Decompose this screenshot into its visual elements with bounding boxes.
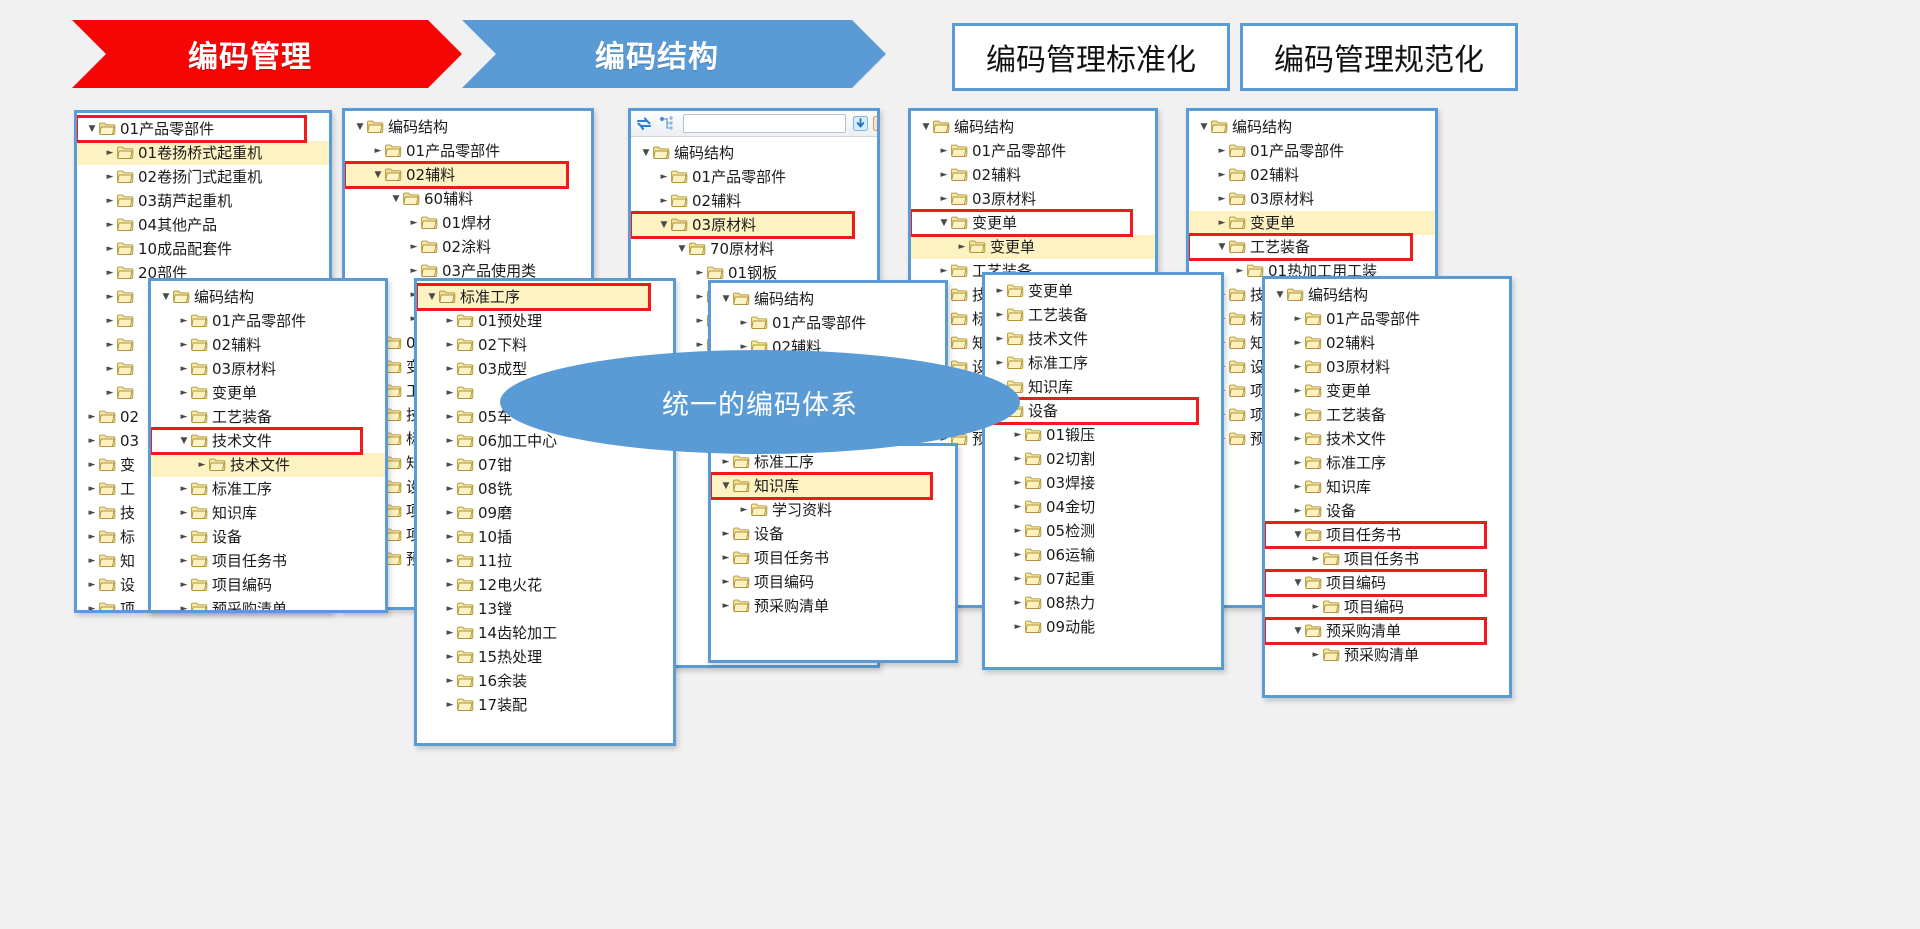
tree-node-label: 02辅料 xyxy=(692,194,741,209)
tree-node[interactable]: ▼编码结构 xyxy=(151,285,385,309)
tree-node[interactable]: ▼01产品零部件 xyxy=(77,117,305,141)
chevron-right-icon[interactable]: ► xyxy=(443,533,457,542)
chevron-right-icon[interactable]: ► xyxy=(1011,599,1025,608)
tree-node[interactable]: ►09磨 xyxy=(417,501,673,525)
tree-node[interactable]: ►知识库 xyxy=(151,501,385,525)
tree-node[interactable]: ►学习资料 xyxy=(711,498,955,522)
tree-node-label: 09磨 xyxy=(478,506,512,521)
header-box-standardization: 编码管理标准化 xyxy=(952,23,1230,91)
chevron-down-icon[interactable]: ▼ xyxy=(719,482,733,491)
tree-node[interactable]: ▼60辅料 xyxy=(345,187,591,211)
tree-node-label: 标 xyxy=(120,530,135,545)
chevron-right-icon[interactable]: ► xyxy=(177,581,191,590)
chevron-down-icon[interactable]: ▼ xyxy=(937,219,951,228)
chevron-right-icon[interactable]: ► xyxy=(103,365,117,374)
folder-icon xyxy=(117,194,134,208)
folder-icon xyxy=(99,458,116,472)
chevron-right-icon[interactable]: ► xyxy=(177,389,191,398)
tree-node[interactable]: ▼知识库 xyxy=(711,474,931,498)
folder-icon xyxy=(1025,596,1042,610)
folder-icon xyxy=(733,551,750,565)
tree-node[interactable]: ►知识库 xyxy=(1265,475,1509,499)
chevron-right-icon[interactable]: ► xyxy=(1291,459,1305,468)
chevron-right-icon[interactable]: ► xyxy=(937,267,951,276)
tree-node[interactable]: ►05检测 xyxy=(985,519,1221,543)
tree-node[interactable]: ►02切割 xyxy=(985,447,1221,471)
chevron-right-icon[interactable]: ► xyxy=(443,509,457,518)
chevron-right-icon[interactable]: ► xyxy=(85,461,99,470)
chevron-right-icon[interactable]: ► xyxy=(407,219,421,228)
chevron-down-icon[interactable]: ▼ xyxy=(389,195,403,204)
chevron-down-icon[interactable]: ▼ xyxy=(919,123,933,132)
tree-node[interactable]: ►项目任务书 xyxy=(1265,547,1509,571)
chevron-right-icon[interactable]: ► xyxy=(177,485,191,494)
tree-node[interactable]: ►01卷扬桥式起重机 xyxy=(77,141,329,165)
tree-node[interactable]: ▼标准工序 xyxy=(417,285,649,309)
chevron-right-icon[interactable]: ► xyxy=(1291,339,1305,348)
tree-node[interactable]: ▼编码结构 xyxy=(631,141,877,165)
folder-icon xyxy=(1025,452,1042,466)
chevron-right-icon[interactable]: ► xyxy=(371,147,385,156)
chevron-right-icon[interactable]: ► xyxy=(1011,551,1025,560)
tree-node[interactable]: ►技术文件 xyxy=(985,327,1221,351)
tree-node[interactable]: ►02辅料 xyxy=(1189,163,1435,187)
tree-node-label: 01锻压 xyxy=(1046,428,1095,443)
tree-node[interactable]: ►02辅料 xyxy=(1265,331,1509,355)
search-input[interactable] xyxy=(683,114,846,133)
tree-node[interactable]: ▼技术文件 xyxy=(151,429,361,453)
tree-node[interactable]: ►12电火花 xyxy=(417,573,673,597)
chevron-right-icon[interactable]: ► xyxy=(693,293,707,302)
folder-icon xyxy=(1305,504,1322,518)
tree-node[interactable]: ►项目编码 xyxy=(151,573,385,597)
chevron-right-icon[interactable]: ► xyxy=(85,509,99,518)
move-down-button[interactable] xyxy=(853,116,868,131)
chevron-right-icon[interactable]: ► xyxy=(1291,363,1305,372)
chevron-right-icon[interactable]: ► xyxy=(85,533,99,542)
tree-node-label: 02下料 xyxy=(478,338,527,353)
tree-node-label: 01产品零部件 xyxy=(692,170,786,185)
tree-node[interactable]: ►项目编码 xyxy=(711,570,955,594)
tree-node[interactable]: ►03原材料 xyxy=(911,187,1155,211)
tree-node[interactable]: ►15热处理 xyxy=(417,645,673,669)
chevron-right-icon[interactable]: ► xyxy=(993,359,1007,368)
chevron-right-icon[interactable]: ► xyxy=(177,413,191,422)
chevron-right-icon[interactable]: ► xyxy=(177,365,191,374)
tree-node[interactable]: ►01产品零部件 xyxy=(911,139,1155,163)
tree-node-label: 编码结构 xyxy=(1232,120,1292,135)
chevron-down-icon[interactable]: ▼ xyxy=(657,221,671,230)
chevron-right-icon[interactable]: ► xyxy=(719,458,733,467)
tree-node[interactable]: ▼02辅料 xyxy=(345,163,567,187)
folder-icon xyxy=(457,506,474,520)
chevron-right-icon[interactable]: ► xyxy=(1011,623,1025,632)
tree-node[interactable]: ►标准工序 xyxy=(1265,451,1509,475)
chevron-right-icon[interactable]: ► xyxy=(443,701,457,710)
chevron-down-icon[interactable]: ▼ xyxy=(353,123,367,132)
folder-icon xyxy=(1305,432,1322,446)
chevron-down-icon[interactable]: ▼ xyxy=(639,149,653,158)
chevron-right-icon[interactable]: ► xyxy=(719,602,733,611)
tree-node-label: 08热力 xyxy=(1046,596,1095,611)
chevron-right-icon[interactable]: ► xyxy=(443,413,457,422)
chevron-right-icon[interactable]: ► xyxy=(1291,387,1305,396)
tree-node[interactable]: ▼编码结构 xyxy=(711,287,945,311)
chevron-right-icon[interactable]: ► xyxy=(993,287,1007,296)
folder-icon xyxy=(1229,312,1246,326)
tree-node[interactable]: ►08热力 xyxy=(985,591,1221,615)
chevron-right-icon[interactable]: ► xyxy=(177,605,191,614)
tree-node[interactable]: ▼预采购清单 xyxy=(1265,619,1485,643)
tree-node[interactable]: ►变更单 xyxy=(151,381,385,405)
chevron-right-icon[interactable]: ► xyxy=(443,653,457,662)
chevron-right-icon[interactable]: ► xyxy=(1291,483,1305,492)
chevron-right-icon[interactable]: ► xyxy=(937,171,951,180)
folder-icon xyxy=(733,599,750,613)
tree-node[interactable]: ►01产品零部件 xyxy=(151,309,385,333)
tree-node[interactable]: ►14齿轮加工 xyxy=(417,621,673,645)
tree-node-label: 02辅料 xyxy=(1250,168,1299,183)
tree-window-4-inner-2[interactable]: ►标准工序▼知识库►学习资料►设备►项目任务书►项目编码►预采购清单 xyxy=(708,443,958,663)
tree-node[interactable]: ►工艺装备 xyxy=(985,303,1221,327)
tree-node-label: 06运输 xyxy=(1046,548,1095,563)
chevron-right-icon[interactable]: ► xyxy=(103,221,117,230)
tree-node[interactable]: ►设备 xyxy=(711,522,955,546)
tree-node-label: 设备 xyxy=(1028,404,1058,419)
chevron-right-icon[interactable]: ► xyxy=(85,581,99,590)
tree-node[interactable]: ►11拉 xyxy=(417,549,673,573)
chevron-right-icon[interactable]: ► xyxy=(103,149,117,158)
folder-icon xyxy=(457,650,474,664)
tree-node[interactable]: ▼变更单 xyxy=(911,211,1131,235)
chevron-right-icon[interactable]: ► xyxy=(177,557,191,566)
chevron-right-icon[interactable]: ► xyxy=(1309,555,1323,564)
tree-node-label: 工艺装备 xyxy=(1326,408,1386,423)
expand-tree-icon[interactable] xyxy=(658,115,676,133)
chevron-right-icon[interactable]: ► xyxy=(103,293,117,302)
folder-icon xyxy=(951,192,968,206)
chevron-right-icon[interactable]: ► xyxy=(103,389,117,398)
chevron-right-icon[interactable]: ► xyxy=(103,317,117,326)
chevron-right-icon[interactable]: ► xyxy=(1011,479,1025,488)
tree-node[interactable]: ►01产品零部件 xyxy=(1189,139,1435,163)
chevron-right-icon[interactable]: ► xyxy=(693,269,707,278)
tree-node[interactable]: ►01产品零部件 xyxy=(711,311,945,335)
folder-icon xyxy=(1305,336,1322,350)
chevron-right-icon[interactable]: ► xyxy=(443,341,457,350)
tree-node[interactable]: ►变更单 xyxy=(985,279,1221,303)
chevron-right-icon[interactable]: ► xyxy=(443,629,457,638)
tree-node[interactable]: ►10成品配套件 xyxy=(77,237,329,261)
tree-node[interactable]: ►02辅料 xyxy=(151,333,385,357)
tree-node[interactable]: ►03原材料 xyxy=(151,357,385,381)
folder-icon xyxy=(99,530,116,544)
tree-node[interactable]: ►04金切 xyxy=(985,495,1221,519)
tree-node-label: 编码结构 xyxy=(1308,288,1368,303)
folder-icon xyxy=(99,482,116,496)
folder-icon xyxy=(457,578,474,592)
folder-icon xyxy=(99,410,116,424)
tree-node[interactable]: ▼70原材料 xyxy=(631,237,877,261)
chevron-right-icon[interactable]: ► xyxy=(103,245,117,254)
tree-node[interactable]: ►10插 xyxy=(417,525,673,549)
tree-view: ►变更单►工艺装备►技术文件►标准工序►知识库▼设备►01锻压►02切割►03焊… xyxy=(985,275,1221,639)
folder-icon xyxy=(1323,552,1340,566)
tree-node[interactable]: ►01锻压 xyxy=(985,423,1221,447)
chevron-right-icon[interactable]: ► xyxy=(719,554,733,563)
chevron-right-icon[interactable]: ► xyxy=(85,557,99,566)
tree-node-label: 15热处理 xyxy=(478,650,542,665)
chevron-down-icon[interactable]: ▼ xyxy=(1291,579,1305,588)
chevron-down-icon[interactable]: ▼ xyxy=(371,171,385,180)
tree-node[interactable]: ►02辅料 xyxy=(911,163,1155,187)
chevron-right-icon[interactable]: ► xyxy=(443,677,457,686)
chevron-right-icon[interactable]: ► xyxy=(937,195,951,204)
tree-node[interactable]: ►02下料 xyxy=(417,333,673,357)
folder-icon xyxy=(951,288,968,302)
chevron-right-icon[interactable]: ► xyxy=(1291,411,1305,420)
tree-node[interactable]: ►13镗 xyxy=(417,597,673,621)
chevron-right-icon[interactable]: ► xyxy=(1215,195,1229,204)
folder-icon xyxy=(751,503,768,517)
chevron-right-icon[interactable]: ► xyxy=(1215,147,1229,156)
chevron-right-icon[interactable]: ► xyxy=(1291,315,1305,324)
chevron-right-icon[interactable]: ► xyxy=(85,485,99,494)
folder-icon xyxy=(1025,500,1042,514)
chevron-right-icon[interactable]: ► xyxy=(85,437,99,446)
tree-node-label: 03产品使用类 xyxy=(442,264,536,279)
chevron-right-icon[interactable]: ► xyxy=(1291,507,1305,516)
folder-icon xyxy=(1323,648,1340,662)
tree-node[interactable]: ►标准工序 xyxy=(151,477,385,501)
tree-node[interactable]: ►01焊材 xyxy=(345,211,591,235)
tree-node[interactable]: ►设备 xyxy=(1265,499,1509,523)
chevron-down-icon[interactable]: ▼ xyxy=(1291,627,1305,636)
tree-window-1-inner[interactable]: ▼编码结构►01产品零部件►02辅料►03原材料►变更单►工艺装备▼技术文件►技… xyxy=(148,278,388,613)
folder-icon xyxy=(191,314,208,328)
tree-node[interactable]: ►项目任务书 xyxy=(151,549,385,573)
tree-node[interactable]: ▼03原材料 xyxy=(631,213,853,237)
tree-node[interactable]: ►变更单 xyxy=(1265,379,1509,403)
tree-node-label: 03原材料 xyxy=(1326,360,1390,375)
tree-node[interactable]: ►16余装 xyxy=(417,669,673,693)
tree-node[interactable]: ►01产品零部件 xyxy=(345,139,591,163)
tree-node[interactable]: ►工艺装备 xyxy=(1265,403,1509,427)
folder-icon xyxy=(457,410,474,424)
tree-node[interactable]: ►01产品零部件 xyxy=(1265,307,1509,331)
folder-icon xyxy=(421,264,438,278)
folder-icon xyxy=(191,554,208,568)
chevron-right-icon[interactable]: ► xyxy=(1215,219,1229,228)
chevron-right-icon[interactable]: ► xyxy=(993,311,1007,320)
chevron-right-icon[interactable]: ► xyxy=(443,461,457,470)
chevron-right-icon[interactable]: ► xyxy=(443,389,457,398)
chevron-right-icon[interactable]: ► xyxy=(737,319,751,328)
folder-icon xyxy=(457,530,474,544)
tree-node[interactable]: ►02辅料 xyxy=(631,189,877,213)
chevron-right-icon[interactable]: ► xyxy=(1011,503,1025,512)
chevron-down-icon[interactable]: ▼ xyxy=(425,293,439,302)
tree-view: ▼编码结构►01产品零部件►02辅料►03原材料►变更单►工艺装备►技术文件►标… xyxy=(1265,279,1509,667)
tree-node-label: 14齿轮加工 xyxy=(478,626,557,641)
chevron-right-icon[interactable]: ► xyxy=(177,317,191,326)
chevron-right-icon[interactable]: ► xyxy=(177,533,191,542)
chevron-right-icon[interactable]: ► xyxy=(1309,603,1323,612)
tree-node[interactable]: ▼项目任务书 xyxy=(1265,523,1485,547)
tree-node[interactable]: ►03原材料 xyxy=(1189,187,1435,211)
chevron-down-icon[interactable]: ▼ xyxy=(1215,243,1229,252)
chevron-down-icon[interactable]: ▼ xyxy=(1291,531,1305,540)
folder-icon xyxy=(403,192,420,206)
tree-node[interactable]: ►变更单 xyxy=(1189,211,1435,235)
chevron-step-2-label: 编码结构 xyxy=(595,32,719,76)
chevron-right-icon[interactable]: ► xyxy=(443,485,457,494)
tree-node-label: 设备 xyxy=(754,527,784,542)
tree-node[interactable]: ►01预处理 xyxy=(417,309,673,333)
tree-node[interactable]: ►技术文件 xyxy=(1265,427,1509,451)
tree-node[interactable]: ►设备 xyxy=(151,525,385,549)
chevron-right-icon[interactable]: ► xyxy=(955,243,969,252)
tree-node-label: 工艺装备 xyxy=(1250,240,1310,255)
tree-node[interactable]: ►09动能 xyxy=(985,615,1221,639)
chevron-right-icon[interactable]: ► xyxy=(443,605,457,614)
tree-node-label: 知识库 xyxy=(1028,380,1073,395)
chevron-right-icon[interactable]: ► xyxy=(657,173,671,182)
chevron-right-icon[interactable]: ► xyxy=(177,509,191,518)
tree-node[interactable]: ►工艺装备 xyxy=(151,405,385,429)
chevron-right-icon[interactable]: ► xyxy=(937,147,951,156)
chevron-right-icon[interactable]: ► xyxy=(443,365,457,374)
chevron-right-icon[interactable]: ► xyxy=(407,243,421,252)
folder-icon xyxy=(1305,312,1322,326)
chevron-down-icon[interactable]: ▼ xyxy=(85,125,99,134)
chevron-down-icon[interactable]: ▼ xyxy=(1273,291,1287,300)
tree-node-label: 02辅料 xyxy=(406,168,455,183)
chevron-right-icon[interactable]: ► xyxy=(103,173,117,182)
tree-node[interactable]: ►预采购清单 xyxy=(151,597,385,613)
refresh-icon[interactable] xyxy=(635,115,653,133)
chevron-right-icon[interactable]: ► xyxy=(85,605,99,614)
chevron-right-icon[interactable]: ► xyxy=(1011,431,1025,440)
chevron-right-icon[interactable]: ► xyxy=(443,317,457,326)
tree-node-label: 变 xyxy=(120,458,135,473)
tree-window-3[interactable]: ▼标准工序►01预处理►02下料►03成型►►05车►06加工中心►07钳►08… xyxy=(414,278,676,746)
chevron-right-icon[interactable]: ► xyxy=(195,461,209,470)
chevron-right-icon[interactable]: ► xyxy=(1215,171,1229,180)
chevron-down-icon[interactable]: ▼ xyxy=(719,295,733,304)
tree-node[interactable]: ►变更单 xyxy=(911,235,1155,259)
chevron-right-icon[interactable]: ► xyxy=(693,317,707,326)
folder-icon xyxy=(733,527,750,541)
tree-node[interactable]: ▼工艺装备 xyxy=(1189,235,1411,259)
tree-node[interactable]: ►知识库 xyxy=(985,375,1221,399)
chevron-right-icon[interactable]: ► xyxy=(737,506,751,515)
tree-node[interactable]: ▼编码结构 xyxy=(345,115,591,139)
chevron-right-icon[interactable]: ► xyxy=(1233,267,1247,276)
chevron-right-icon[interactable]: ► xyxy=(443,437,457,446)
chevron-down-icon[interactable]: ▼ xyxy=(177,437,191,446)
chevron-right-icon[interactable]: ► xyxy=(1011,455,1025,464)
tree-node[interactable]: ►08铣 xyxy=(417,477,673,501)
tree-window-5-inner[interactable]: ►变更单►工艺装备►技术文件►标准工序►知识库▼设备►01锻压►02切割►03焊… xyxy=(982,272,1224,670)
tree-node[interactable]: ►07起重 xyxy=(985,567,1221,591)
chevron-right-icon[interactable]: ► xyxy=(1011,575,1025,584)
tree-node-label: 07钳 xyxy=(478,458,512,473)
chevron-right-icon[interactable]: ► xyxy=(85,413,99,422)
tree-node[interactable]: ►03葫芦起重机 xyxy=(77,189,329,213)
tree-node[interactable]: ►06运输 xyxy=(985,543,1221,567)
tree-node[interactable]: ►01产品零部件 xyxy=(631,165,877,189)
chevron-right-icon[interactable]: ► xyxy=(103,269,117,278)
tree-node[interactable]: ▼编码结构 xyxy=(1189,115,1435,139)
chevron-right-icon[interactable]: ► xyxy=(719,578,733,587)
folder-icon xyxy=(1229,408,1246,422)
tree-node[interactable]: ►02涂料 xyxy=(345,235,591,259)
folder-icon xyxy=(1305,360,1322,374)
chevron-right-icon[interactable]: ► xyxy=(1309,651,1323,660)
chevron-down-icon[interactable]: ▼ xyxy=(675,245,689,254)
tree-node[interactable]: ►项目编码 xyxy=(1265,595,1509,619)
chevron-right-icon[interactable]: ► xyxy=(177,341,191,350)
tree-node[interactable]: ►02卷扬门式起重机 xyxy=(77,165,329,189)
folder-icon xyxy=(653,146,670,160)
tree-node[interactable]: ►17装配 xyxy=(417,693,673,717)
tree-node-label: 03原材料 xyxy=(1250,192,1314,207)
tree-node[interactable]: ►03焊接 xyxy=(985,471,1221,495)
chevron-right-icon[interactable]: ► xyxy=(103,341,117,350)
tree-window-6-inner[interactable]: ▼编码结构►01产品零部件►02辅料►03原材料►变更单►工艺装备►技术文件►标… xyxy=(1262,276,1512,698)
tree-node[interactable]: ►技术文件 xyxy=(151,453,385,477)
tree-node-label: 变更单 xyxy=(212,386,257,401)
chevron-down-icon[interactable]: ▼ xyxy=(1197,123,1211,132)
tree-node[interactable]: ►预采购清单 xyxy=(1265,643,1509,667)
chevron-right-icon[interactable]: ► xyxy=(407,267,421,276)
chevron-right-icon[interactable]: ► xyxy=(103,197,117,206)
tree-node[interactable]: ►项目任务书 xyxy=(711,546,955,570)
tree-node[interactable]: ►04其他产品 xyxy=(77,213,329,237)
folder-icon xyxy=(951,264,968,278)
tree-node-label: 设 xyxy=(120,578,135,593)
tree-node[interactable]: ▼项目编码 xyxy=(1265,571,1485,595)
tree-node-label: 01产品零部件 xyxy=(772,316,866,331)
chevron-right-icon[interactable]: ► xyxy=(443,581,457,590)
chevron-right-icon[interactable]: ► xyxy=(719,530,733,539)
tree-node[interactable]: ▼编码结构 xyxy=(911,115,1155,139)
chevron-right-icon[interactable]: ► xyxy=(443,557,457,566)
folder-icon xyxy=(191,602,208,613)
chevron-right-icon[interactable]: ► xyxy=(693,341,707,350)
chevron-right-icon[interactable]: ► xyxy=(993,335,1007,344)
chevron-down-icon[interactable]: ▼ xyxy=(159,293,173,302)
chevron-right-icon[interactable]: ► xyxy=(657,197,671,206)
tree-node-label: 预采购清单 xyxy=(754,599,829,614)
tree-node[interactable]: ▼编码结构 xyxy=(1265,283,1509,307)
folder-icon xyxy=(733,292,750,306)
chevron-right-icon[interactable]: ► xyxy=(1011,527,1025,536)
tree-node-label: 设备 xyxy=(1326,504,1356,519)
folder-icon xyxy=(707,266,724,280)
tree-node[interactable]: ►07钳 xyxy=(417,453,673,477)
tree-node-label: 17装配 xyxy=(478,698,527,713)
center-badge: 统一的编码体系 xyxy=(500,350,1020,454)
move-up-button[interactable] xyxy=(873,116,880,131)
tree-node[interactable]: ►03原材料 xyxy=(1265,355,1509,379)
tree-node[interactable]: ►预采购清单 xyxy=(711,594,955,618)
tree-toolbar[interactable] xyxy=(631,111,877,137)
tree-node[interactable]: ►标准工序 xyxy=(985,351,1221,375)
chevron-right-icon[interactable]: ► xyxy=(1291,435,1305,444)
folder-icon xyxy=(457,386,474,400)
